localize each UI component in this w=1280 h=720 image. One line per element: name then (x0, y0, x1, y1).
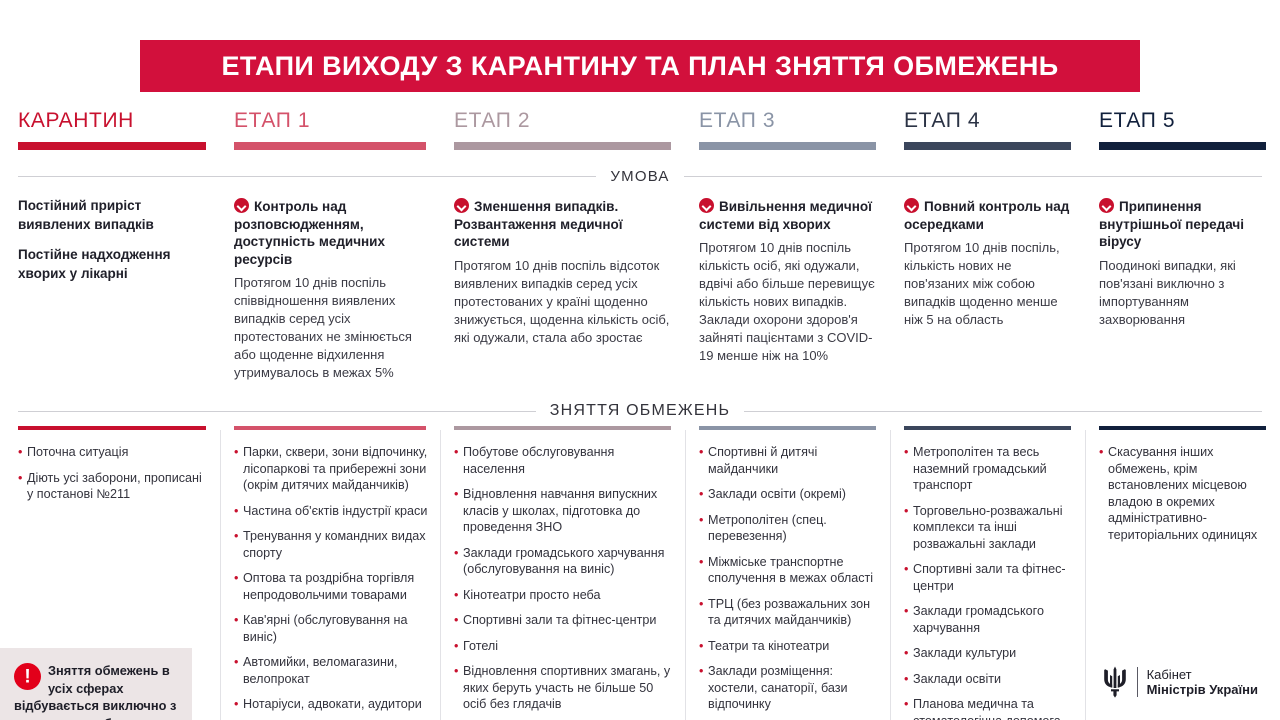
condition-heading-3: Вивільнення медичної системи від хворих (699, 196, 876, 233)
condition-heading-5: Припинення внутрішньої передачі вірусу (1099, 196, 1266, 251)
condition-strong-0-0: Постійний приріст виявлених випадків (18, 196, 206, 234)
column-stage-3: ЕТАП 3 Вивільнення медичної системи від … (685, 108, 890, 720)
list-item: Заклади громадського харчування (904, 603, 1075, 636)
list-item: Відновлення спортивних змагань, у яких б… (454, 663, 675, 713)
stage-bar-5 (1099, 142, 1266, 150)
stage-bar-4 (904, 142, 1071, 150)
stage-columns: КАРАНТИН Постійний приріст виявлених вип… (0, 108, 1280, 720)
stage-bar-1 (234, 142, 426, 150)
list-item: Поточна ситуація (18, 444, 210, 461)
column-stage-4: ЕТАП 4 Повний контроль над осередками Пр… (890, 108, 1085, 720)
list-item: Метрополітен та весь наземний громадськи… (904, 444, 1075, 494)
condition-body-3: Протягом 10 днів поспіль кількість осіб,… (699, 239, 876, 365)
list-bar-5 (1099, 426, 1266, 430)
list-item: Побутове обслуговування населення (454, 444, 675, 477)
list-item: Заклади громадського харчування (обслуго… (454, 545, 675, 578)
condition-body-1: Протягом 10 днів поспіль співвідношення … (234, 274, 426, 382)
column-quarantine: КАРАНТИН Постійний приріст виявлених вип… (0, 108, 220, 720)
column-stage-1: ЕТАП 1 Контроль над розповсюдженням, дос… (220, 108, 440, 720)
title-banner: ЕТАПИ ВИХОДУ З КАРАНТИНУ ТА ПЛАН ЗНЯТТЯ … (140, 40, 1140, 92)
stage-title-4: ЕТАП 4 (904, 108, 1071, 138)
list-item: Планова медична та стоматологічна допомо… (904, 696, 1075, 720)
condition-heading-text-2: Зменшення випадків. Розвантаження медичн… (454, 199, 623, 249)
list-item: Спортивні зали та фітнес-центри (454, 612, 675, 629)
stage-title-3: ЕТАП 3 (699, 108, 876, 138)
list-bar-0 (18, 426, 206, 430)
chevron-down-icon (904, 198, 919, 213)
bullet-list-0: Поточна ситуаціяДіють усі заборони, проп… (18, 444, 210, 512)
safety-callout: Зняття обмежень в усіх сферах відбуваєть… (0, 648, 192, 720)
list-item: Кінотеатри просто неба (454, 587, 675, 604)
condition-heading-text-3: Вивільнення медичної системи від хворих (699, 199, 872, 232)
list-item: Скасування інших обмежень, крім встановл… (1099, 444, 1270, 543)
list-item: Парки, сквери, зони відпочинку, лісопарк… (234, 444, 430, 494)
exclamation-icon (14, 663, 41, 690)
list-item: Спортивні й дитячі майданчики (699, 444, 880, 477)
logo-line-2: Міністрів України (1147, 682, 1258, 698)
chevron-down-icon (1099, 198, 1114, 213)
page-title: ЕТАПИ ВИХОДУ З КАРАНТИНУ ТА ПЛАН ЗНЯТТЯ … (221, 51, 1058, 82)
list-bar-3 (699, 426, 876, 430)
list-item: Діють усі заборони, прописані у постанов… (18, 470, 210, 503)
list-bar-1 (234, 426, 426, 430)
list-item: Кав'ярні (обслуговування на виніс) (234, 612, 430, 645)
condition-block-2: Зменшення випадків. Розвантаження медичн… (454, 196, 671, 347)
list-bar-4 (904, 426, 1071, 430)
condition-block-4: Повний контроль над осередками Протягом … (904, 196, 1071, 329)
stage-title-5: ЕТАП 5 (1099, 108, 1266, 138)
logo-divider (1137, 667, 1138, 697)
stage-bar-2 (454, 142, 671, 150)
list-bar-2 (454, 426, 671, 430)
column-stage-2: ЕТАП 2 Зменшення випадків. Розвантаження… (440, 108, 685, 720)
bullet-list-3: Спортивні й дитячі майданчикиЗаклади осв… (699, 444, 880, 720)
condition-block-3: Вивільнення медичної системи від хворих … (699, 196, 876, 365)
condition-heading-text-4: Повний контроль над осередками (904, 199, 1069, 232)
column-stage-5: ЕТАП 5 Припинення внутрішньої передачі в… (1085, 108, 1280, 720)
chevron-down-icon (699, 198, 714, 213)
list-item: Нотаріуси, адвокати, аудитори (234, 696, 430, 713)
condition-block-0: Постійний приріст виявлених випадків Пос… (18, 196, 206, 294)
stage-bar-3 (699, 142, 876, 150)
stage-title-1: ЕТАП 1 (234, 108, 426, 138)
condition-heading-text-1: Контроль над розповсюдженням, доступніст… (234, 199, 385, 267)
list-item: Міжміське транспортне сполучення в межах… (699, 554, 880, 587)
infographic-page: ЕТАПИ ВИХОДУ З КАРАНТИНУ ТА ПЛАН ЗНЯТТЯ … (0, 0, 1280, 720)
bullet-list-1: Парки, сквери, зони відпочинку, лісопарк… (234, 444, 430, 720)
stage-title-2: ЕТАП 2 (454, 108, 671, 138)
list-item: Метрополітен (спец. перевезення) (699, 512, 880, 545)
list-item: Відновлення навчання випускних класів у … (454, 486, 675, 536)
chevron-down-icon (234, 198, 249, 213)
list-item: Готелі (454, 638, 675, 655)
list-item: Автомийки, веломагазини, велопрокат (234, 654, 430, 687)
list-item: ТРЦ (без розважальних зон та дитячих май… (699, 596, 880, 629)
condition-body-4: Протягом 10 днів поспіль, кількість нови… (904, 239, 1071, 329)
list-item: Тренування у командних видах спорту (234, 528, 430, 561)
list-item: Торговельно-розважальні комплекси та інш… (904, 503, 1075, 553)
logo-text: Кабінет Міністрів України (1147, 667, 1258, 698)
condition-heading-2: Зменшення випадків. Розвантаження медичн… (454, 196, 671, 251)
bullet-list-5: Скасування інших обмежень, крім встановл… (1099, 444, 1270, 552)
list-item: Частина об'єктів індустрії краси (234, 503, 430, 520)
list-item: Оптова та роздрібна торгівля непродоволь… (234, 570, 430, 603)
list-item: Спортивні зали та фітнес-центри (904, 561, 1075, 594)
stage-bar-0 (18, 142, 206, 150)
government-logo: Кабінет Міністрів України (1102, 666, 1258, 698)
trident-icon (1102, 666, 1128, 698)
list-item: Заклади освіти (окремі) (699, 486, 880, 503)
condition-heading-4: Повний контроль над осередками (904, 196, 1071, 233)
bullet-list-4: Метрополітен та весь наземний громадськи… (904, 444, 1075, 720)
list-item: Заклади культури (904, 645, 1075, 662)
condition-body-2: Протягом 10 днів поспіль відсоток виявле… (454, 257, 671, 347)
list-item: Заклади розміщення: хостели, санаторії, … (699, 663, 880, 713)
bullet-list-2: Побутове обслуговування населенняВідновл… (454, 444, 675, 720)
condition-heading-text-5: Припинення внутрішньої передачі вірусу (1099, 199, 1244, 249)
list-item: Заклади освіти (904, 671, 1075, 688)
condition-heading-1: Контроль над розповсюдженням, доступніст… (234, 196, 426, 268)
callout-text: Зняття обмежень в усіх сферах відбуваєть… (14, 662, 180, 720)
stage-title-0: КАРАНТИН (18, 108, 206, 138)
condition-strong-0-1: Постійне надходження хворих у лікарні (18, 245, 206, 283)
logo-line-1: Кабінет (1147, 667, 1258, 683)
condition-block-1: Контроль над розповсюдженням, доступніст… (234, 196, 426, 382)
list-item: Театри та кінотеатри (699, 638, 880, 655)
condition-body-5: Поодинокі випадки, які пов'язані виключн… (1099, 257, 1266, 329)
chevron-down-icon (454, 198, 469, 213)
condition-block-5: Припинення внутрішньої передачі вірусу П… (1099, 196, 1266, 329)
